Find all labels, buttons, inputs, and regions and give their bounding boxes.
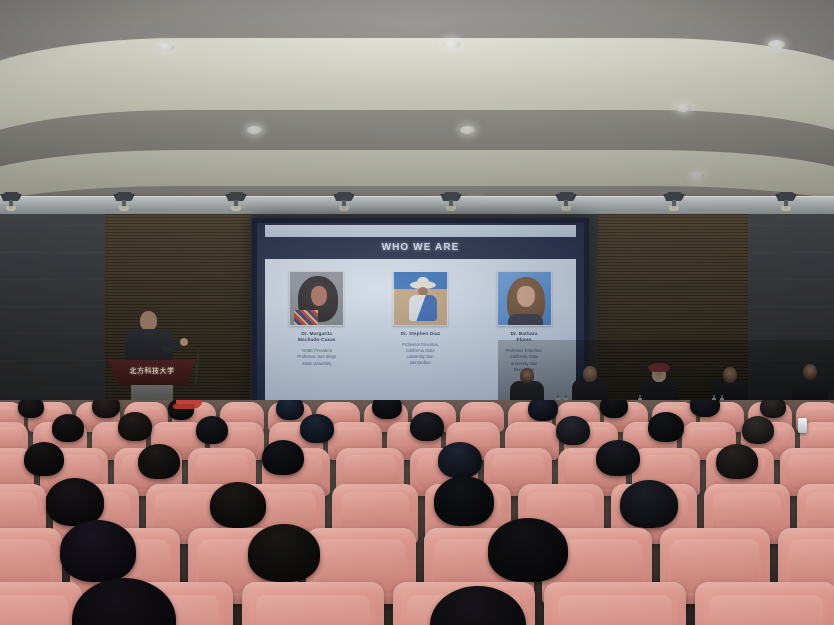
auditorium-seat <box>544 582 686 625</box>
panelist-hat <box>648 363 670 372</box>
audience-head <box>300 414 334 443</box>
audience-head <box>248 524 320 582</box>
audience-head <box>262 440 304 475</box>
slide-person-role: Professor Emeritus, California State uni… <box>402 342 439 366</box>
auditorium-seat <box>695 582 834 625</box>
audience-head <box>372 400 402 419</box>
microphone-stem <box>194 349 200 385</box>
panelist-head <box>723 367 737 383</box>
ceiling-downlight <box>157 43 174 52</box>
slide-person-1: Dr. Margarita Machado-Casas NABE Preside… <box>272 271 362 408</box>
portrait-clothing <box>508 314 543 326</box>
stage-spotlight <box>113 192 135 208</box>
speaker-hand <box>180 338 188 346</box>
audience-head <box>196 416 228 444</box>
audience-head <box>410 412 444 441</box>
audience-head <box>716 444 758 479</box>
speaker-head <box>140 311 157 331</box>
ceiling <box>0 0 834 215</box>
audience-head <box>742 416 774 444</box>
audience-head <box>52 414 84 442</box>
panelist-head <box>803 364 817 380</box>
stage-spotlight <box>663 192 685 208</box>
portrait-barbara <box>497 271 552 326</box>
stage-spotlight <box>440 192 462 208</box>
audience-head <box>118 412 152 441</box>
slide-person-name: Dr. Stephen Diaz <box>401 331 440 337</box>
audience-head <box>600 400 628 418</box>
ceiling-downlight <box>768 40 785 49</box>
stage-spotlight <box>555 192 577 208</box>
ceiling-downlight <box>676 104 691 112</box>
audience-head <box>60 520 136 582</box>
audience-head <box>46 478 104 526</box>
audience-head <box>18 400 44 418</box>
audience-head <box>528 400 558 421</box>
audience-head <box>138 444 180 479</box>
panelist-head <box>583 366 597 382</box>
stage-spotlight <box>225 192 247 208</box>
slide-person-name: Dr. Margarita Machado-Casas <box>298 331 336 343</box>
podium-area: 北方科技大学 <box>100 305 210 415</box>
stage-spotlight <box>0 192 22 208</box>
panelist-head <box>520 368 534 384</box>
auditorium-seat <box>0 582 82 625</box>
portrait-clothing <box>409 295 437 321</box>
audience-head <box>556 416 590 445</box>
lectern: 北方科技大学 <box>108 360 196 386</box>
audience-head <box>596 440 640 476</box>
audience-floor <box>0 400 834 625</box>
ceiling-downlight <box>443 40 460 49</box>
audience-head <box>620 480 678 528</box>
portrait-margarita <box>289 271 344 326</box>
slide-title: WHO WE ARE <box>257 238 584 257</box>
audience-head <box>210 482 266 528</box>
raised-phone <box>798 418 807 433</box>
slide-top-band <box>265 225 576 237</box>
ceiling-downlight <box>460 126 475 134</box>
portrait-stephen <box>393 271 448 326</box>
audience-head <box>690 400 720 417</box>
stage-spotlight <box>333 192 355 208</box>
lectern-inscription: 北方科技大学 <box>108 366 196 376</box>
slide-person-role: NABE President Professor, San diego Stat… <box>297 348 336 366</box>
audience-head <box>434 476 494 526</box>
audience-head <box>24 442 64 476</box>
audience-head <box>648 412 684 442</box>
audience-head <box>488 518 568 582</box>
stage-spotlight <box>775 192 797 208</box>
audience-head <box>438 442 482 478</box>
auditorium-seat <box>242 582 384 625</box>
slide-person-2: Dr. Stephen Diaz Professor Emeritus, Cal… <box>375 271 465 408</box>
ceiling-downlight <box>690 172 704 179</box>
audience-head <box>92 400 120 418</box>
audience-head <box>276 400 304 420</box>
auditorium-photo: WHO WE ARE Dr. Margarita Machado-Casas N… <box>0 0 834 625</box>
audience-head <box>760 400 786 418</box>
ceiling-downlight <box>247 126 262 134</box>
portrait-clothing <box>294 310 318 326</box>
portrait-face <box>517 286 535 307</box>
